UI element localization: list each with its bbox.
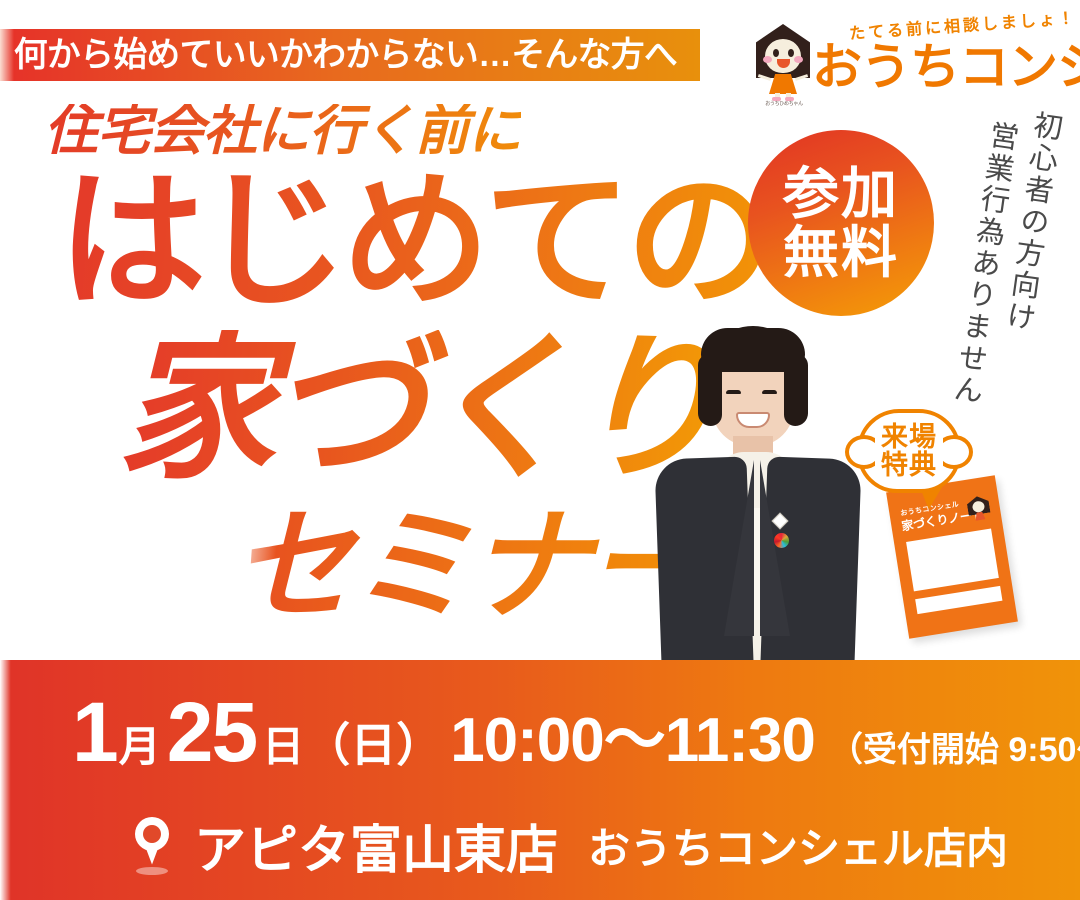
gift-notebook: おうちコンシェル 家づくりノート xyxy=(886,475,1018,638)
notebook-cover-window xyxy=(906,529,999,592)
map-pin-tip xyxy=(143,841,161,865)
visitor-gift-bubble: 来場 特典 xyxy=(857,409,961,493)
mascot-cheek-left xyxy=(763,56,772,63)
event-info-bar: 1 月 25 日 （日） 10:00〜11:30 （受付開始 9:50〜） アピ… xyxy=(0,660,1080,900)
headline-line-2-wrapper: 家づくり 家づくり xyxy=(118,330,678,505)
event-day-number: 25 xyxy=(167,690,256,774)
notebook-mascot-icon xyxy=(966,495,992,524)
event-month-kanji: 月 xyxy=(119,726,161,768)
presenter-sidehair-right xyxy=(784,354,808,426)
presenter-photo xyxy=(628,318,878,666)
map-pin-hole xyxy=(143,825,161,843)
gift-bubble-line-1: 来場 xyxy=(881,423,937,451)
catch-copy-band: 何から始めていいかわからない…そんな方へ xyxy=(0,29,700,81)
map-pin-shadow xyxy=(136,867,168,875)
catch-copy-text: 何から始めていいかわからない…そんな方へ xyxy=(0,38,677,72)
free-badge-line-1: 参加 xyxy=(783,165,899,222)
mascot-eye-left xyxy=(773,49,779,57)
map-pin-icon xyxy=(132,817,172,875)
event-reception-time: （受付開始 9:50〜） xyxy=(829,733,1080,767)
visitor-gift-area: 来場 特典 おうちコンシェル 家づくりノート xyxy=(855,405,1080,660)
mascot-eye-right xyxy=(788,49,794,57)
event-day-of-week: （日） xyxy=(304,722,442,768)
event-time-range: 10:00〜11:30 xyxy=(450,710,815,772)
free-badge-line-2: 無料 xyxy=(783,224,899,281)
gift-bubble-text: 来場 特典 xyxy=(875,423,943,479)
presenter-eye-left xyxy=(726,390,741,394)
headline-line-1: はじめての xyxy=(58,168,768,316)
notebook-cover-strip xyxy=(915,586,1002,614)
mascot-icon: おうちひめちゃん xyxy=(750,24,816,104)
presenter-eye-right xyxy=(762,390,777,394)
venue-name: アピタ富山東店 xyxy=(194,808,558,883)
logo-brand-name: おうちコンシェル xyxy=(812,42,1080,92)
event-venue-row: アピタ富山東店 おうちコンシェル店内 xyxy=(132,808,1008,883)
gift-bubble-line-2: 特典 xyxy=(881,451,937,479)
seminar-poster: 何から始めていいかわからない…そんな方へ おうちひめちゃん たてる前に相談しまし… xyxy=(0,0,1080,900)
mascot-cheek-right xyxy=(794,56,803,63)
presenter-sdgs-pin-icon xyxy=(774,533,789,548)
headline-subtitle: 住宅会社に行く前に xyxy=(44,104,521,158)
vertical-notes: 初心者の方向け 営業行為ありません xyxy=(890,89,1070,406)
event-date-row: 1 月 25 日 （日） 10:00〜11:30 （受付開始 9:50〜） xyxy=(72,690,1080,774)
event-day-kanji: 日 xyxy=(262,726,304,768)
event-month-number: 1 xyxy=(72,690,117,774)
presenter-sidehair-left xyxy=(698,354,722,426)
venue-detail: おうちコンシェル店内 xyxy=(588,815,1008,876)
mascot-caption: おうちひめちゃん xyxy=(758,100,810,107)
note-no-sales-pitch: 営業行為ありません xyxy=(949,119,1018,408)
